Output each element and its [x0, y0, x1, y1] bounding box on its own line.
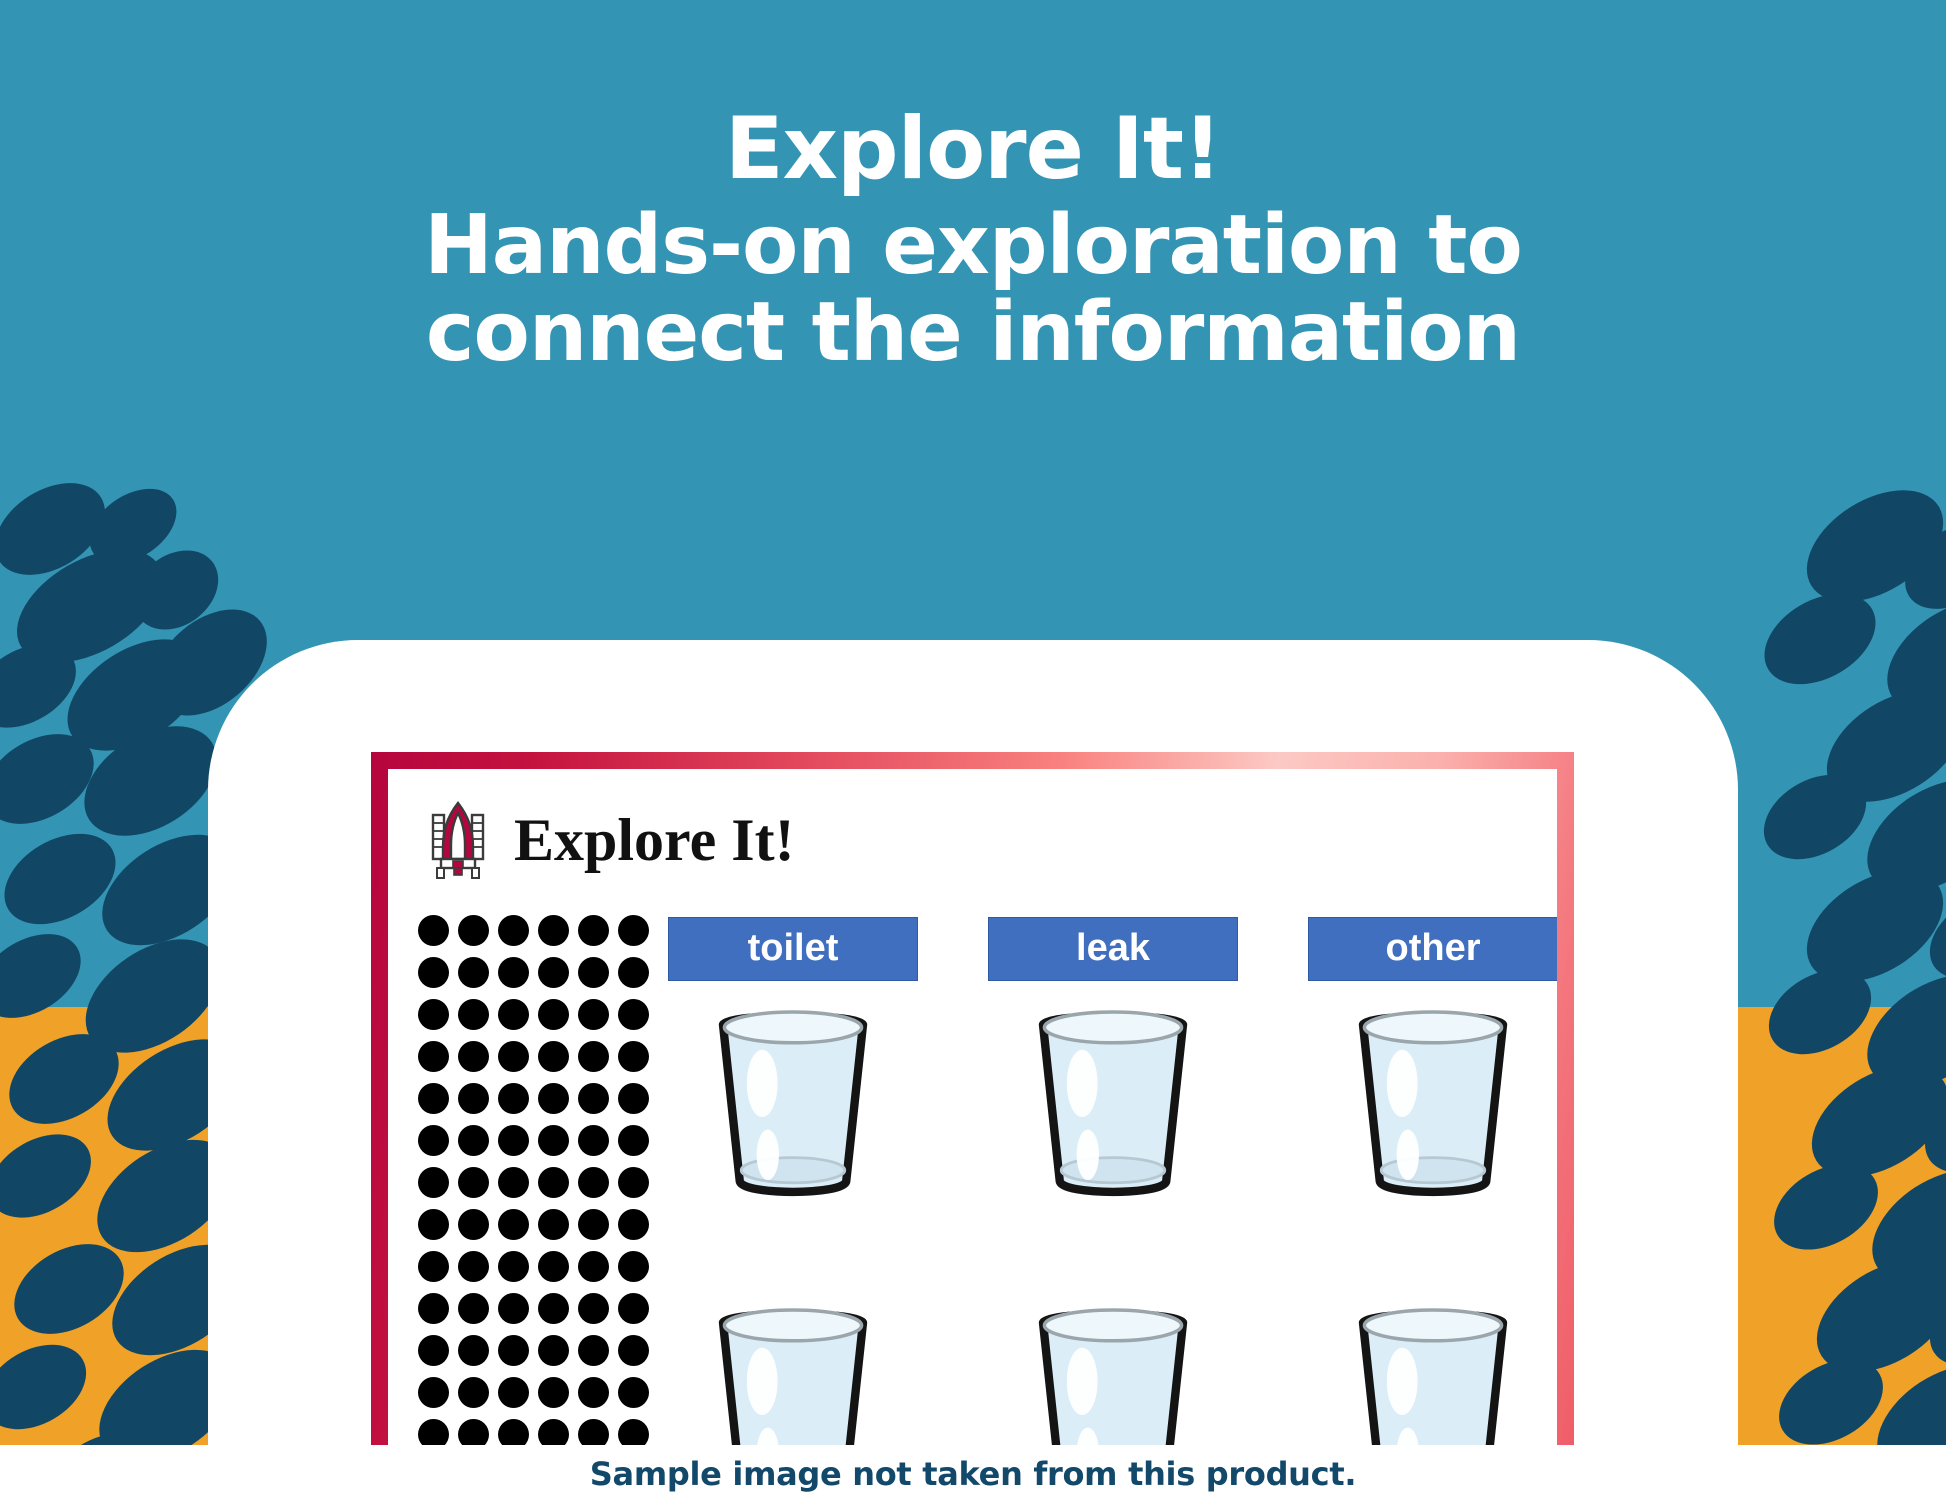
- worksheet-page: Explore It! toiletleakother: [388, 769, 1557, 1486]
- grid-dot: [458, 1209, 489, 1240]
- grid-dot: [498, 1377, 529, 1408]
- grid-dot: [418, 999, 449, 1030]
- rocket-icon: [428, 801, 488, 879]
- grid-dot: [578, 1083, 609, 1114]
- category-label-toilet[interactable]: toilet: [668, 917, 918, 981]
- grid-dot: [418, 1167, 449, 1198]
- grid-dot: [458, 1167, 489, 1198]
- grid-dot: [498, 1041, 529, 1072]
- grid-dot: [538, 999, 569, 1030]
- grid-dot: [418, 1251, 449, 1282]
- grid-dot: [458, 999, 489, 1030]
- category-label-leak[interactable]: leak: [988, 917, 1238, 981]
- grid-dot: [618, 999, 649, 1030]
- category-label-other[interactable]: other: [1308, 917, 1557, 981]
- grid-dot: [618, 1335, 649, 1366]
- headline-line-2: Hands-on exploration to: [0, 203, 1946, 290]
- grid-dot: [618, 1041, 649, 1072]
- cup-icon: [1349, 1005, 1517, 1201]
- worksheet-title: Explore It!: [514, 810, 795, 870]
- grid-dot: [418, 1377, 449, 1408]
- grid-dot: [418, 1083, 449, 1114]
- page-title: Explore It! Hands-on exploration to conn…: [0, 104, 1946, 377]
- headline-line-1: Explore It!: [0, 104, 1946, 195]
- headline-line-3: connect the information: [0, 290, 1946, 377]
- grid-dot: [498, 1251, 529, 1282]
- grid-dot: [618, 1293, 649, 1324]
- grid-dot: [458, 1293, 489, 1324]
- worksheet-header: Explore It!: [428, 801, 795, 879]
- cup-slot: [709, 981, 877, 1201]
- sample-disclaimer: Sample image not taken from this product…: [590, 1455, 1356, 1493]
- grid-dot: [498, 1209, 529, 1240]
- grid-dot: [538, 957, 569, 988]
- cup-slot: [1349, 981, 1517, 1201]
- cup-icon: [1029, 1005, 1197, 1201]
- grid-dot: [458, 1125, 489, 1156]
- grid-dot: [498, 957, 529, 988]
- grid-dot: [538, 1335, 569, 1366]
- grid-dot: [538, 1041, 569, 1072]
- grid-dot: [458, 1377, 489, 1408]
- grid-dot: [458, 1083, 489, 1114]
- grid-dot: [578, 1251, 609, 1282]
- grid-dot: [618, 1209, 649, 1240]
- grid-dot: [618, 1377, 649, 1408]
- grid-dot: [418, 957, 449, 988]
- category-column: other: [1308, 917, 1557, 1201]
- grid-dot: [458, 915, 489, 946]
- grid-dot: [578, 915, 609, 946]
- grid-dot: [498, 1335, 529, 1366]
- worksheet-frame: Explore It! toiletleakother: [371, 752, 1574, 1503]
- grid-dot: [578, 999, 609, 1030]
- grid-dot: [618, 1125, 649, 1156]
- grid-dot: [458, 1251, 489, 1282]
- grid-dot: [538, 1083, 569, 1114]
- grid-dot: [538, 915, 569, 946]
- grid-dot: [538, 1377, 569, 1408]
- grid-dot: [458, 1041, 489, 1072]
- grid-dot: [418, 1293, 449, 1324]
- caption-banner: Sample image not taken from this product…: [0, 1445, 1946, 1503]
- grid-dot: [578, 1209, 609, 1240]
- grid-dot: [498, 1083, 529, 1114]
- grid-dot: [538, 1251, 569, 1282]
- grid-dot: [418, 1335, 449, 1366]
- grid-dot: [418, 915, 449, 946]
- grid-dot: [458, 1335, 489, 1366]
- grid-dot: [418, 1209, 449, 1240]
- grid-dot: [618, 1083, 649, 1114]
- grid-dot: [538, 1167, 569, 1198]
- grid-dot: [578, 1335, 609, 1366]
- category-row: toiletleakother: [668, 917, 1557, 1201]
- grid-dot: [498, 1125, 529, 1156]
- grid-dot: [498, 915, 529, 946]
- grid-dot: [578, 1377, 609, 1408]
- dot-grid: [413, 909, 653, 1486]
- grid-dot: [618, 1251, 649, 1282]
- grid-dot: [538, 1293, 569, 1324]
- category-column: toilet: [668, 917, 918, 1201]
- grid-dot: [538, 1125, 569, 1156]
- category-column: leak: [988, 917, 1238, 1201]
- cup-slot: [1029, 981, 1197, 1201]
- grid-dot: [578, 1293, 609, 1324]
- grid-dot: [578, 957, 609, 988]
- poster-canvas: Explore It! Hands-on exploration to conn…: [0, 0, 1946, 1503]
- grid-dot: [618, 1167, 649, 1198]
- grid-dot: [578, 1125, 609, 1156]
- grid-dot: [618, 915, 649, 946]
- grid-dot: [418, 1125, 449, 1156]
- grid-dot: [578, 1041, 609, 1072]
- cup-icon: [709, 1005, 877, 1201]
- grid-dot: [418, 1041, 449, 1072]
- grid-dot: [498, 999, 529, 1030]
- grid-dot: [618, 957, 649, 988]
- grid-dot: [498, 1293, 529, 1324]
- grid-dot: [578, 1167, 609, 1198]
- grid-dot: [458, 957, 489, 988]
- grid-dot: [538, 1209, 569, 1240]
- grid-dot: [498, 1167, 529, 1198]
